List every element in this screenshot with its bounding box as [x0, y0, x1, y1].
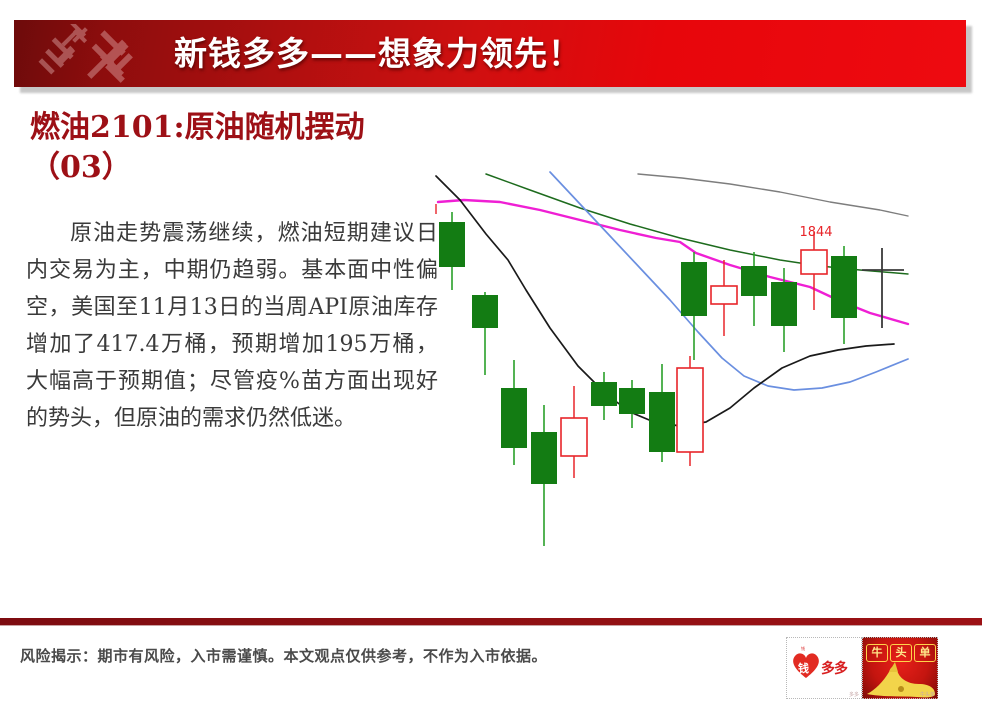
candle-6 — [591, 372, 617, 420]
header-banner: 新钱多多——想象力领先！ — [14, 20, 966, 87]
candle-2 — [472, 292, 498, 375]
candle-10 — [681, 252, 707, 360]
chinese-lattice-knot-icon — [32, 24, 150, 84]
price-annotation-1844: 1844 — [799, 225, 832, 240]
candle-14 — [801, 232, 827, 310]
disclaimer-text: 风险揭示：期市有风险，入市需谨慎。本文观点仅供参考，不作为入市依据。 — [20, 645, 720, 666]
candles — [436, 204, 904, 546]
candle-8 — [649, 364, 675, 462]
banner-title: 新钱多多——想象力领先！ — [174, 20, 582, 87]
footer-rule — [0, 618, 982, 625]
footer-rule-thin — [0, 625, 982, 626]
candle-3 — [501, 360, 527, 465]
logo-qdd-mini: 多多 — [849, 691, 859, 698]
candle-5 — [561, 386, 587, 478]
logo-qianduoduo: 钱 钱 多多 多多 — [786, 637, 862, 699]
candle-12 — [741, 252, 767, 326]
candle-15 — [831, 246, 857, 344]
logo-qdd-heart-text: 钱 — [798, 660, 809, 676]
banner-background: 新钱多多——想象力领先！ — [14, 20, 966, 87]
footer-logos: 钱 钱 多多 多多 牛 头 单 牛头单 — [786, 637, 946, 705]
page-title: 燃油2101:原油随机摆动（03） — [30, 108, 430, 187]
candle-4 — [531, 405, 557, 546]
candlestick-chart: 1844 — [430, 160, 930, 580]
candle-1 — [439, 212, 465, 290]
logo-qdd-rest-text: 多多 — [821, 658, 847, 678]
chart-canvas: 1844 — [430, 160, 930, 580]
article-body: 原油走势震荡继续，燃油短期建议日内交易为主，中期仍趋弱。基本面中性偏空，美国至1… — [26, 216, 438, 438]
logo-niutoudan: 牛 头 单 牛头单 — [862, 637, 938, 699]
candle-11 — [711, 260, 737, 336]
candle-13 — [771, 268, 797, 352]
candle-9 — [677, 356, 703, 466]
logo-ntd-mini: 牛头单 — [920, 691, 935, 698]
candle-7 — [619, 380, 645, 428]
ma-gray-line — [638, 174, 908, 216]
